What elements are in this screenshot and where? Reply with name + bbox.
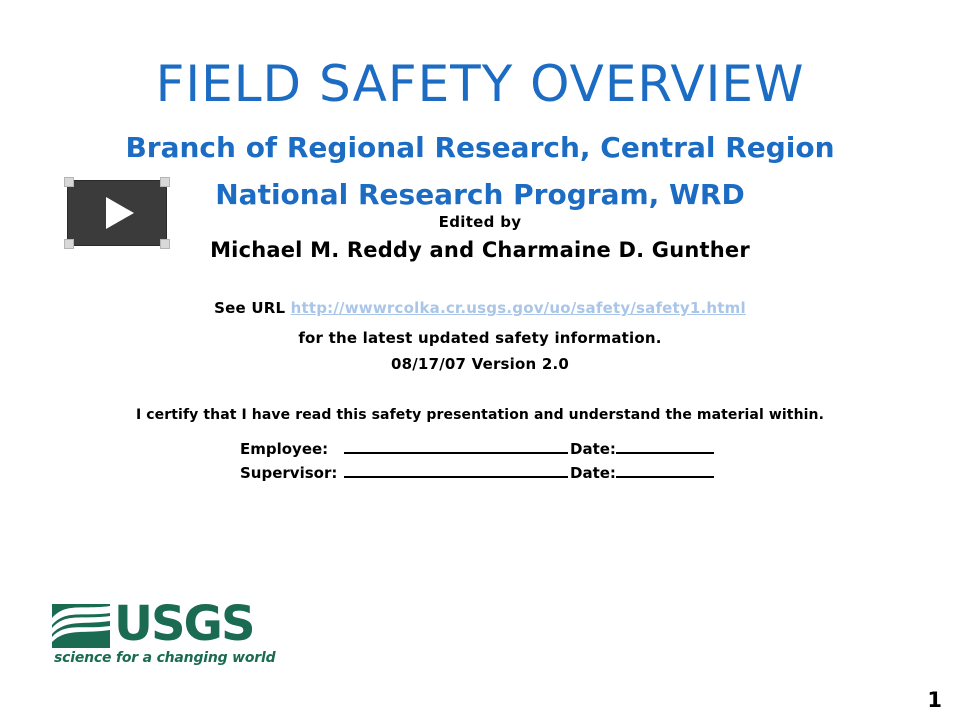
supervisor-date-label: Date: [568, 464, 616, 482]
play-icon [106, 197, 134, 229]
employee-date-field[interactable] [616, 438, 714, 454]
employee-signature-field[interactable] [344, 438, 568, 454]
subtitle-line-1: Branch of Regional Research, Central Reg… [0, 133, 960, 164]
version-text: 08/17/07 Version 2.0 [0, 355, 960, 373]
certification-statement: I certify that I have read this safety p… [0, 407, 960, 423]
resize-handle-top-left[interactable] [64, 177, 74, 187]
slide-canvas: FIELD SAFETY OVERVIEW Branch of Regional… [0, 0, 960, 720]
usgs-tagline: science for a changing world [54, 650, 275, 666]
play-button[interactable] [68, 181, 166, 245]
safety-url-link[interactable]: http://wwwrcolka.cr.usgs.gov/uo/safety/s… [291, 299, 746, 317]
url-note-text: for the latest updated safety informatio… [0, 329, 960, 347]
usgs-wordmark: USGS [114, 600, 254, 648]
usgs-logo: USGS science for a changing world [52, 602, 252, 674]
page-title: FIELD SAFETY OVERVIEW [0, 58, 960, 111]
see-url-line: See URL http://wwwrcolka.cr.usgs.gov/uo/… [0, 299, 960, 317]
usgs-wave-icon [52, 604, 110, 648]
signature-row-employee: Employee:Date: [0, 438, 960, 458]
employee-label: Employee: [240, 440, 344, 458]
supervisor-signature-field[interactable] [344, 462, 568, 478]
see-url-prefix: See URL [214, 299, 290, 317]
resize-handle-top-right[interactable] [160, 177, 170, 187]
page-number: 1 [927, 688, 942, 712]
resize-handle-bottom-left[interactable] [64, 239, 74, 249]
employee-date-label: Date: [568, 440, 616, 458]
supervisor-label: Supervisor: [240, 464, 344, 482]
supervisor-date-field[interactable] [616, 462, 714, 478]
resize-handle-bottom-right[interactable] [160, 239, 170, 249]
signature-row-supervisor: Supervisor:Date: [0, 462, 960, 482]
media-object-selected[interactable] [62, 175, 172, 251]
